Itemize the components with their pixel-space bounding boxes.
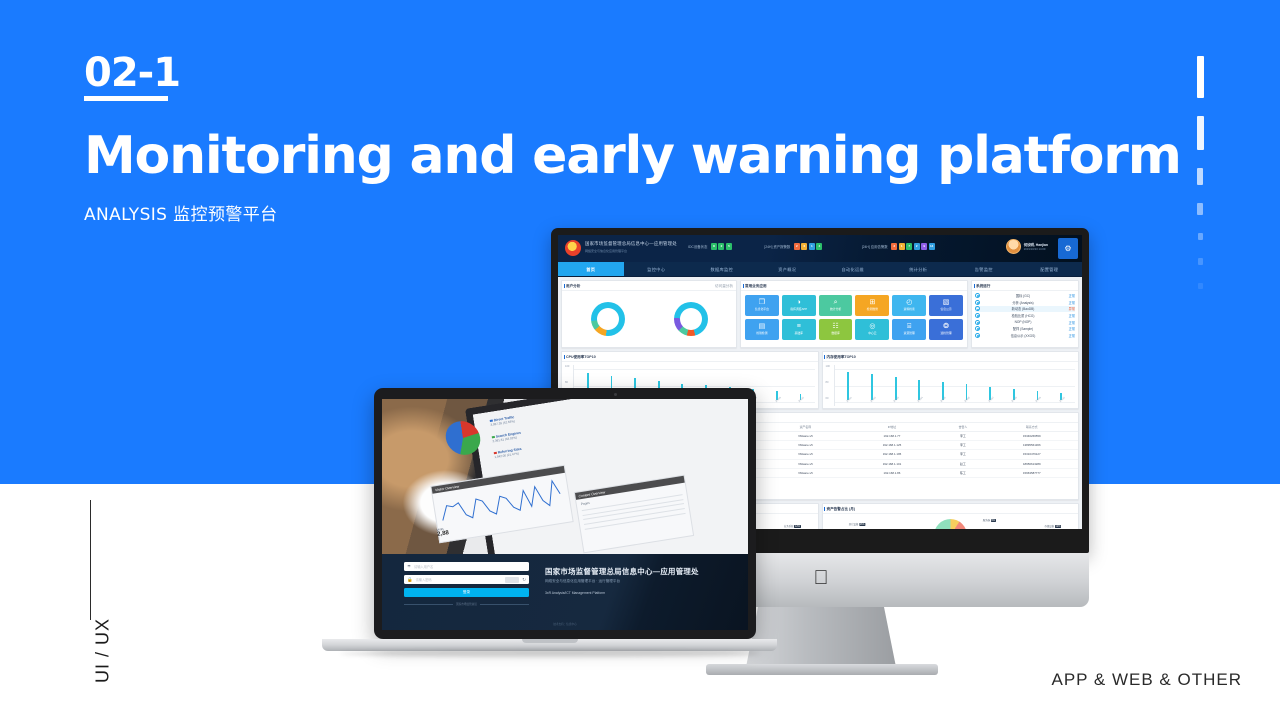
status-indicator-icon: [975, 300, 980, 305]
app-tile-label: 检验检测: [756, 331, 767, 335]
status-badge: 2: [718, 243, 724, 250]
app-tile-label: 统计分析: [830, 307, 841, 311]
grid-icon: ⊞: [869, 299, 875, 306]
stat-group-1: [24H] 资产报警数2614: [764, 243, 822, 250]
doc-icon: ▤: [759, 323, 766, 330]
app-tile-grid[interactable]: ❒信息化平台◑指挥调度APP⌕统计分析⊞检测维修◴资料检索▧信息公示▤检验检测≡…: [741, 291, 967, 343]
status-badge: 2: [794, 243, 800, 250]
dashboard-row-1: 用户分析 访问量分析 常用业务应用: [561, 280, 1079, 348]
server-icon: ⌸: [907, 323, 911, 330]
column-header: 联系方式: [986, 423, 1078, 432]
status-badge: 正常: [1066, 320, 1075, 325]
app-tile-2[interactable]: ⌕统计分析: [819, 295, 853, 316]
status-badge: 1: [809, 243, 815, 250]
footer-caption: APP & WEB & OTHER: [1051, 670, 1242, 690]
status-name: NOP (NOP): [982, 320, 1064, 324]
status-name: 分析 (Analysis): [982, 300, 1064, 305]
status-badge: 正常: [1066, 333, 1075, 338]
pie-panel-1: 资产告警占比 (月)服务器 9%存储设备 12%广东子站 15%网络设备 22%…: [822, 503, 1080, 529]
app-tile-0[interactable]: ❒信息化平台: [745, 295, 779, 316]
status-row-6[interactable]: 信息公示 (XXGS)正常: [975, 332, 1075, 339]
page-subtitle: ANALYSIS 监控预警平台: [84, 200, 278, 225]
app-tile-label: 数据库: [831, 331, 839, 335]
panel-more-link[interactable]: 访问量分析: [715, 284, 733, 289]
status-row-0[interactable]: 国标 (GC)正常: [975, 293, 1075, 300]
status-badge: 4: [816, 243, 822, 250]
macbook-notch: [522, 639, 578, 643]
table-cell: 18956613289: [986, 459, 1078, 468]
decorative-tick-marks: [1194, 56, 1206, 307]
tab-7[interactable]: 配置管理: [1017, 262, 1083, 276]
status-badge: 正常: [1066, 313, 1075, 318]
app-tile-label: 基础库: [795, 331, 803, 335]
tab-0[interactable]: 首页: [558, 262, 624, 276]
panel-common-apps: 常用业务应用 ❒信息化平台◑指挥调度APP⌕统计分析⊞检测维修◴资料检索▧信息公…: [740, 280, 968, 348]
memory-bar-chart: 1008060主机01主机02主机03主机04主机05主机06主机07主机08主…: [823, 362, 1079, 408]
macbook-screen: Direct Traffic 3,087.35 (42.63%) Search …: [382, 399, 748, 630]
login-english-title: 3xR Analysis/ICT Management Platform: [545, 591, 605, 595]
slide-number: 02-1: [84, 50, 180, 96]
pie-label-1: 业务系统 12%: [784, 524, 801, 528]
panel-title: 内存使用率TOP10: [823, 352, 1079, 362]
app-tile-label: 资源管理: [904, 331, 915, 335]
y-tick-label: 100: [826, 365, 834, 368]
app-tile-8[interactable]: ☷数据库: [819, 319, 853, 340]
username-placeholder: 请输入用户名: [414, 564, 526, 569]
app-tile-label: 巡检管理: [940, 331, 951, 335]
panel-title: 常用业务应用: [741, 281, 967, 291]
list-icon: ≡: [797, 323, 801, 330]
y-tick-label: 100: [565, 365, 573, 368]
tick-mark-5: [1198, 258, 1203, 265]
macbook-bezel: Direct Traffic 3,087.35 (42.63%) Search …: [374, 388, 756, 639]
dashboard-org-title: 国家市场监督管理总局信息中心—应用管理处: [585, 241, 677, 247]
password-placeholder: 请输入密码: [416, 577, 503, 582]
camera-icon: [614, 393, 617, 396]
app-tile-9[interactable]: ◎中心云: [855, 319, 889, 340]
y-axis: 1008060: [826, 365, 834, 406]
status-row-4[interactable]: NOP (NOP)正常: [975, 319, 1075, 326]
login-footer: 技术支持：信息中心: [382, 622, 748, 626]
tick-mark-2: [1197, 168, 1203, 185]
app-tile-10[interactable]: ⌸资源管理: [892, 319, 926, 340]
status-badge: 2: [914, 243, 920, 250]
dashboard-topbar: 国家市场监督管理总局信息中心—应用管理处 网络安全与信息化应用管理平台 何欣明,…: [558, 235, 1082, 262]
table-cell: 15346266559: [986, 432, 1078, 441]
stat-group-2: [24H] 应用告警数3172914: [862, 243, 935, 250]
donut-chart-browser: [591, 302, 625, 336]
table-cell: 陈工: [940, 468, 985, 477]
status-badge: 正常: [1066, 300, 1075, 305]
stat-group-label: [24H] 资产报警数: [764, 244, 790, 249]
tick-mark-1: [1197, 116, 1204, 150]
dashboard-nav[interactable]: 首页监控中心数据库监控资产概况自动化运维统计分析告警监控配置管理: [558, 262, 1082, 277]
photo-visits-stat: Visits 2,88: [436, 526, 449, 538]
stat-group-label: [24H] 应用告警数: [862, 244, 888, 249]
user-timestamp: 2019/10/23 14:09: [1024, 247, 1048, 251]
panel-title-text: 系统运行: [976, 284, 990, 288]
username-field[interactable]: ☂ 请输入用户名: [404, 562, 529, 571]
panel-title: 用户分析 访问量分析: [562, 281, 736, 291]
status-badge: 5: [726, 243, 732, 250]
app-tile-3[interactable]: ⊞检测维修: [855, 295, 889, 316]
table-cell: 192.168.1.195: [844, 450, 941, 459]
gear-icon[interactable]: ⚙: [1058, 238, 1078, 259]
slide-number-underline: [84, 96, 168, 101]
table-cell: 赵工: [940, 459, 985, 468]
tab-5[interactable]: 统计分析: [886, 262, 952, 276]
status-badge: 正常: [1066, 293, 1075, 298]
y-tick-label: 80: [565, 381, 573, 384]
pie-label-6: 其它设备 26%: [849, 522, 866, 526]
macbook-shadow: [340, 650, 760, 657]
side-rule: [90, 500, 91, 620]
status-badge: 异常: [1066, 306, 1075, 311]
table-cell: VMware-v5: [767, 450, 843, 459]
status-indicator-icon: [975, 306, 980, 311]
database-icon: ☷: [832, 323, 838, 330]
panel-title-text: 常用业务应用: [745, 284, 767, 288]
app-tile-label: 信息化平台: [755, 307, 769, 311]
tab-6[interactable]: 告警监控: [951, 262, 1017, 276]
login-title: 国家市场监督管理总局信息中心—应用管理处: [545, 566, 699, 577]
table-cell: 李工: [940, 432, 985, 441]
pie-chart-wrap: 服务器 9%存储设备 12%广东子站 15%网络设备 22%安全设备 10%链路…: [823, 514, 1079, 529]
refresh-icon[interactable]: ↻: [522, 577, 526, 583]
panel-user-analysis: 用户分析 访问量分析: [561, 280, 737, 348]
status-indicator-icon: [975, 313, 980, 318]
pie-label-0: 服务器 9%: [983, 518, 996, 522]
status-name: 国标 (GC): [982, 293, 1064, 298]
user-badge[interactable]: 何欣明, Hanjian 2019/10/23 14:09: [1006, 239, 1048, 254]
page-title: Monitoring and early warning platform: [84, 126, 1181, 186]
app-tile-label: 检测维修: [867, 307, 878, 311]
pie-label-1: 存储设备 12%: [1045, 524, 1062, 528]
status-row-5[interactable]: 配样 (Sample)正常: [975, 325, 1075, 332]
tab-4[interactable]: 自动化运维: [820, 262, 886, 276]
globe-icon: ◎: [869, 323, 875, 330]
x-axis: 主机01主机02主机03主机04主机05主机06主机07主机08主机09主机10: [837, 400, 1074, 406]
search-icon: ⌕: [834, 299, 838, 306]
user-icon: ☂: [407, 564, 411, 570]
panel-title: 系统运行: [972, 281, 1078, 291]
captcha-icon[interactable]: [505, 577, 519, 583]
status-row-1[interactable]: 分析 (Analysis)正常: [975, 299, 1075, 306]
panel-title-text: 内存使用率TOP10: [827, 355, 856, 359]
shield-icon: ❂: [943, 323, 949, 330]
avatar: [1006, 239, 1021, 254]
table-cell: 李工: [940, 441, 985, 450]
table-cell: 192.168.1.77: [844, 432, 941, 441]
panel-title-text: 用户分析: [566, 284, 580, 288]
dashboard-org-subtitle: 网络安全与信息化应用管理平台: [585, 249, 627, 253]
status-name: 配样 (Sample): [982, 326, 1064, 331]
donut-chart-os: [674, 302, 708, 336]
panel-title: CPU使用率TOP10: [562, 352, 818, 362]
table-cell: VMware-v5: [767, 432, 843, 441]
status-indicator-icon: [975, 333, 980, 338]
tick-mark-0: [1197, 56, 1204, 98]
app-tile-1[interactable]: ◑指挥调度APP: [782, 295, 816, 316]
macbook-mockup: Direct Traffic 3,087.35 (42.63%) Search …: [322, 388, 777, 670]
login-screen: ☂ 请输入用户名 🔒 请输入密码 ↻ 登录 国家市场监管总局: [382, 554, 748, 630]
window-icon: ❒: [759, 299, 765, 306]
tick-mark-4: [1198, 233, 1203, 240]
analytics-photo: Direct Traffic 3,087.35 (42.63%) Search …: [382, 399, 748, 554]
login-form: ☂ 请输入用户名 🔒 请输入密码 ↻ 登录 国家市场监管总局: [404, 562, 529, 606]
password-field[interactable]: 🔒 请输入密码 ↻: [404, 575, 529, 584]
status-badge: 8: [711, 243, 717, 250]
plot-area: 主机01主机02主机03主机04主机05主机06主机07主机08主机09主机10: [834, 365, 1076, 406]
app-tile-11[interactable]: ❂巡检管理: [929, 319, 963, 340]
status-indicator-icon: [975, 320, 980, 325]
panel-title-text: CPU使用率TOP10: [566, 355, 596, 359]
clock-icon: ◴: [906, 299, 912, 306]
status-badge: 14: [929, 243, 935, 250]
drop-icon: ◑: [797, 299, 801, 306]
stat-group-label: IDC设备状态: [688, 244, 707, 249]
table-cell: 192.168.1.86: [844, 468, 941, 477]
panel-title-text: 资产告警占比 (月): [827, 507, 856, 511]
app-tile-label: 中心云: [868, 331, 876, 335]
table-cell: VMware-v5: [767, 441, 843, 450]
book-icon: ▧: [943, 299, 950, 306]
panel-system-status: 系统运行 国标 (GC)正常分析 (Analysis)正常新动态 (BaoDB)…: [971, 280, 1079, 348]
y-tick-label: 60: [826, 397, 834, 400]
login-divider: 国家市场监管总局: [404, 602, 529, 606]
status-badge: 6: [801, 243, 807, 250]
status-badge: 正常: [1066, 326, 1075, 331]
login-divider-text: 国家市场监管总局: [456, 602, 477, 606]
photo-line-chart: [433, 473, 570, 533]
lock-icon: 🔒: [407, 577, 413, 583]
table-cell: VMware-v5: [767, 459, 843, 468]
tick-mark-6: [1198, 283, 1203, 289]
status-badge: 9: [921, 243, 927, 250]
tab-3[interactable]: 资产概况: [755, 262, 821, 276]
panel-title: 资产告警占比 (月): [823, 504, 1079, 514]
app-tile-5[interactable]: ▧信息公示: [929, 295, 963, 316]
table-cell: 192.168.1.125: [844, 441, 941, 450]
status-indicator-icon: [975, 293, 980, 298]
national-emblem-icon: [565, 240, 581, 256]
column-header: 资产名称: [767, 423, 843, 432]
table-cell: 李工: [940, 450, 985, 459]
status-indicator-icon: [975, 326, 980, 331]
status-name: 检验比质 (HCG): [982, 313, 1064, 318]
app-tile-6[interactable]: ▤检验检测: [745, 319, 779, 340]
pie-chart: [934, 519, 967, 530]
apple-logo-icon: : [813, 569, 829, 588]
table-cell: 15963587777: [986, 468, 1078, 477]
app-tile-4[interactable]: ◴资料检索: [892, 295, 926, 316]
status-row-3[interactable]: 检验比质 (HCG)正常: [975, 312, 1075, 319]
side-label: UI / UX: [93, 596, 114, 706]
status-name: 信息公示 (XXGS): [982, 333, 1064, 338]
stat-group-0: IDC设备状态825: [688, 243, 732, 250]
tab-1[interactable]: 监控中心: [624, 262, 690, 276]
status-row-2[interactable]: 新动态 (BaoDB)异常: [975, 306, 1075, 313]
donut-chart-group: [562, 291, 736, 347]
status-name: 新动态 (BaoDB): [982, 306, 1064, 311]
table-cell: 192.168.1.101: [844, 459, 941, 468]
table-cell: 13895561366: [986, 441, 1078, 450]
panel-memory-top10: 内存使用率TOP10 1008060主机01主机02主机03主机04主机05主机…: [822, 351, 1080, 409]
table-cell: 15316476127: [986, 450, 1078, 459]
table-cell: VMware-v5: [767, 468, 843, 477]
login-submit-button[interactable]: 登录: [404, 588, 529, 597]
tab-2[interactable]: 数据库监控: [689, 262, 755, 276]
app-tile-7[interactable]: ≡基础库: [782, 319, 816, 340]
y-tick-label: 80: [826, 381, 834, 384]
app-tile-label: 指挥调度APP: [790, 307, 807, 311]
system-status-list: 国标 (GC)正常分析 (Analysis)正常新动态 (BaoDB)异常检验比…: [972, 291, 1078, 341]
app-tile-label: 资料检索: [904, 307, 915, 311]
status-badge: 1: [899, 243, 905, 250]
pie-column-right: 资产告警占比 (月)服务器 9%存储设备 12%广东子站 15%网络设备 22%…: [822, 503, 1080, 529]
login-subtitle: 网络安全与信息化应用管理平台 · 运行管理平台: [545, 579, 620, 584]
status-badge: 7: [906, 243, 912, 250]
column-header: IP地址: [844, 423, 941, 432]
status-badge: 3: [891, 243, 897, 250]
app-tile-label: 信息公示: [940, 307, 951, 311]
tick-mark-3: [1197, 203, 1203, 215]
column-header: 告警人: [940, 423, 985, 432]
